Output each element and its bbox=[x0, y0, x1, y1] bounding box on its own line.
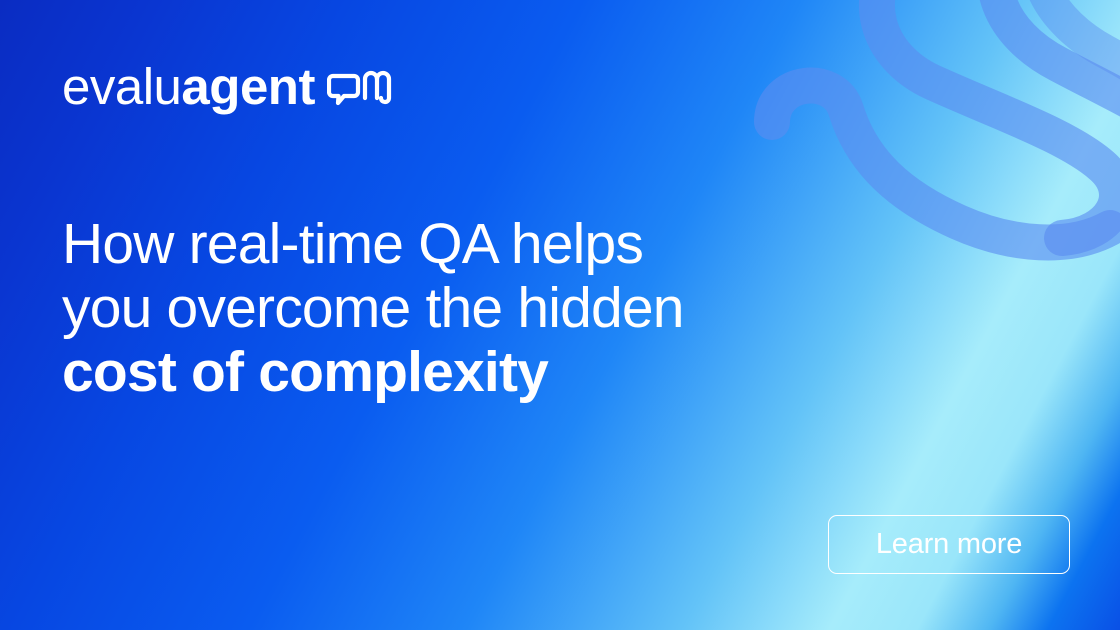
headline-line-3: cost of complexity bbox=[62, 340, 892, 404]
headline-line-2: you overcome the hidden bbox=[62, 276, 892, 340]
promo-banner: evaluagent How real-time QA helps you ov… bbox=[0, 0, 1120, 630]
headline: How real-time QA helps you overcome the … bbox=[62, 212, 892, 404]
brand-wordmark-bold: agent bbox=[181, 58, 315, 115]
brand-wordmark-light: evalu bbox=[62, 58, 181, 115]
headline-line-1: How real-time QA helps bbox=[62, 212, 892, 276]
brand-logo[interactable]: evaluagent bbox=[62, 58, 397, 114]
brand-wordmark: evaluagent bbox=[62, 61, 315, 112]
speech-bubble-waveform-icon bbox=[327, 65, 397, 107]
learn-more-button[interactable]: Learn more bbox=[828, 515, 1070, 574]
